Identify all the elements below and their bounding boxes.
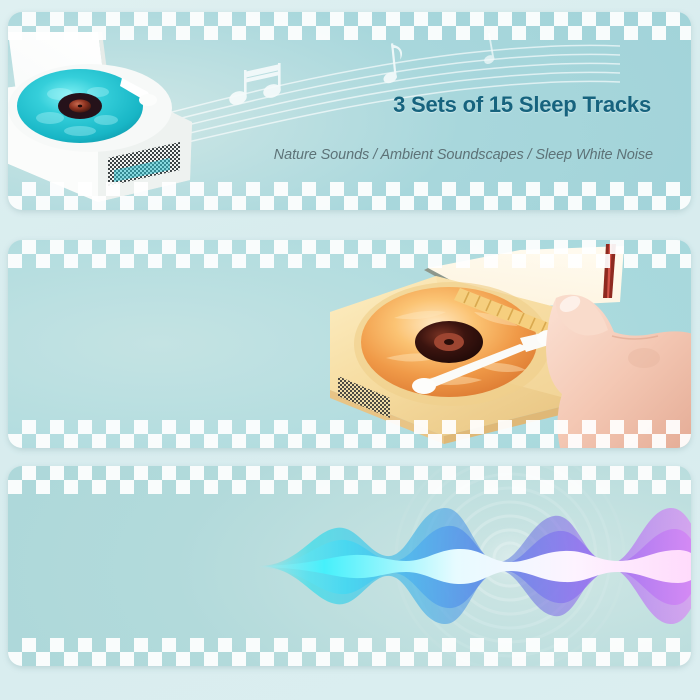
feature-panel-sleep-tracks: 3 Sets of 15 Sleep Tracks Nature Sounds … — [8, 12, 691, 210]
yellow-turntable-with-hand-photo — [324, 240, 691, 448]
white-turntable-speaker-photo — [8, 30, 198, 210]
panel-1-subline: Nature Sounds / Ambient Soundscapes / Sl… — [274, 147, 653, 163]
panel-content: 3 Sets of 15 Sleep Tracks Nature Sounds … — [8, 12, 691, 210]
feature-panel-sleep-timer: One-Touch Sleep Timer 15-90 Minute Auto … — [8, 240, 691, 448]
product-feature-infographic: 3 Sets of 15 Sleep Tracks Nature Sounds … — [0, 0, 700, 700]
feature-panel-surround-sound: 360° Immersive Surround Sound Immersive … — [8, 466, 691, 666]
audio-waveform-graphic — [258, 466, 691, 666]
music-staff-notes-icon — [128, 30, 608, 150]
panel-content: One-Touch Sleep Timer 15-90 Minute Auto … — [8, 240, 691, 448]
panel-content: 360° Immersive Surround Sound Immersive … — [8, 466, 691, 666]
panel-1-headline: 3 Sets of 15 Sleep Tracks — [393, 92, 651, 118]
